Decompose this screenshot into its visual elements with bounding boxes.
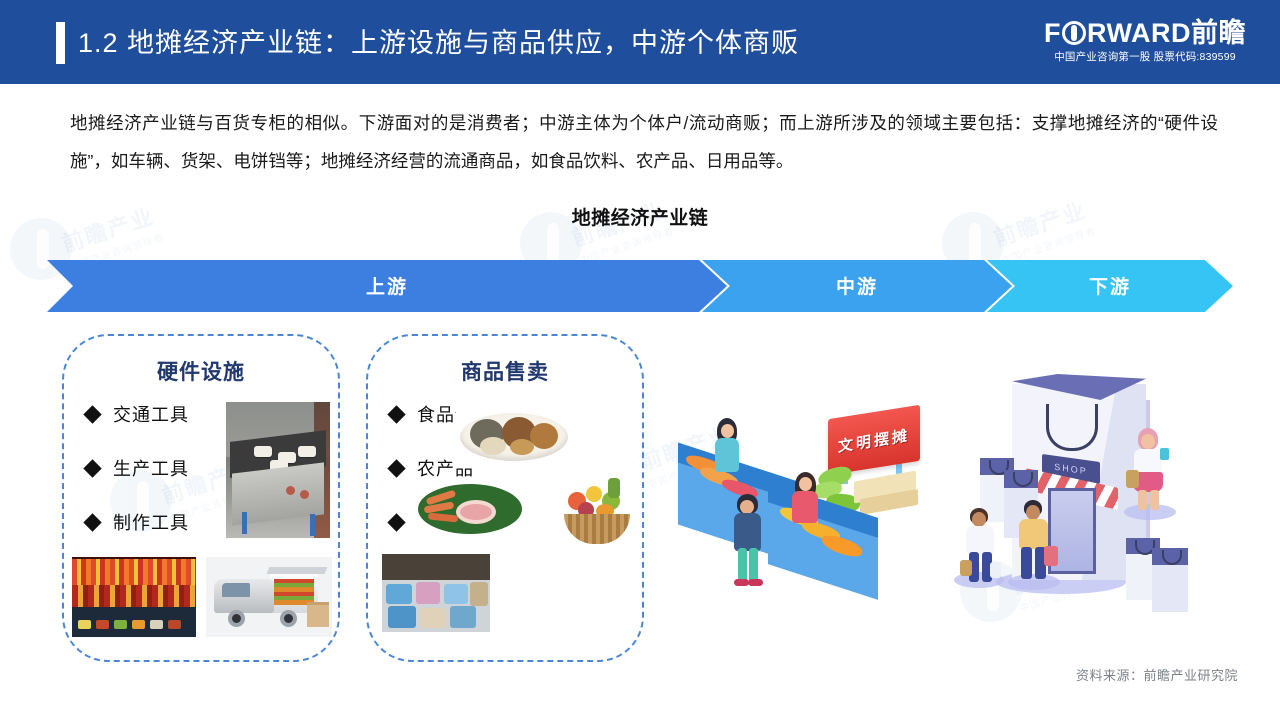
fruit-basket-photo [556,470,638,546]
diamond-bullet-icon [387,513,405,531]
chain-segment-upstream: 上游 [47,260,727,312]
nuts-plate-photo [456,405,572,467]
chain-segment-downstream: 下游 [987,260,1233,312]
slide-header: 1.2 地摊经济产业链：上游设施与商品供应，中游个体商贩 FRWARD前瞻 中国… [0,0,1280,84]
customer-person [732,494,764,586]
chain-segment-label: 下游 [1089,272,1131,299]
brand-name-rest: RWARD [1087,18,1191,48]
chain-segment-midstream: 中游 [702,260,1012,312]
diamond-bullet-icon [387,459,405,477]
brand-name-cn: 前瞻 [1191,18,1246,48]
brand-logo: FRWARD前瞻 中国产业咨询第一股 股票代码:839599 [1044,18,1246,64]
vendor-person [790,472,820,530]
market-stall-illustration: 文明摆摊 [660,390,922,622]
list-item: 交通工具 [86,400,189,428]
card-bullet-list: 交通工具 生产工具 制作工具 [86,400,189,562]
list-item-label: 制作工具 [113,509,189,535]
value-chain-band: 上游 中游 下游 [47,260,1233,312]
slide-root: 前瞻产业 中国产业咨询领导者 前瞻产业 中国产业咨询领导者 前瞻产业 中国产业咨… [0,0,1280,720]
shop-storefront-illustration: SHOP [930,360,1212,622]
chart-title: 地摊经济产业链 [0,203,1280,230]
chain-segment-label: 中游 [836,272,878,299]
chain-segment-label: 上游 [366,272,408,299]
shopper-person [1016,500,1052,578]
list-item: 生产工具 [86,454,189,482]
brand-subtitle: 中国产业咨询第一股 股票代码:839599 [1044,50,1246,64]
night-market-stall-photo [72,557,196,637]
bag-handle-icon [1046,404,1098,451]
vendor-person [712,418,742,478]
diamond-bullet-icon [83,459,101,477]
shopper-person [1130,428,1168,510]
plastic-goods-photo [382,554,490,632]
food-truck-photo [206,557,332,637]
sign-text: 文明摆摊 [828,405,920,476]
brand-o-icon [1062,21,1086,45]
card-title: 硬件设施 [64,356,338,386]
brand-name: FRWARD前瞻 [1044,18,1246,48]
shopper-person [964,508,998,580]
brand-name-f: F [1044,18,1061,48]
shopping-bag [1152,548,1188,612]
diamond-bullet-icon [83,513,101,531]
diamond-bullet-icon [83,405,101,423]
diamond-bullet-icon [387,405,405,423]
body-paragraph: 地摊经济产业链与百货专柜的相似。下游面对的是消费者；中游主体为个体户/流动商贩；… [70,104,1218,180]
source-note: 资料来源：前瞻产业研究院 [1076,665,1238,684]
list-item-label: 交通工具 [113,401,189,427]
list-item: 制作工具 [86,508,189,536]
civilized-stall-sign: 文明摆摊 [828,405,920,476]
list-item-label: 生产工具 [113,455,189,481]
electric-griddle-photo [226,402,330,538]
card-title: 商品售卖 [368,356,642,386]
meat-platter-photo [416,478,524,540]
header-accent-bar [56,22,65,64]
page-title: 1.2 地摊经济产业链：上游设施与商品供应，中游个体商贩 [78,22,799,64]
